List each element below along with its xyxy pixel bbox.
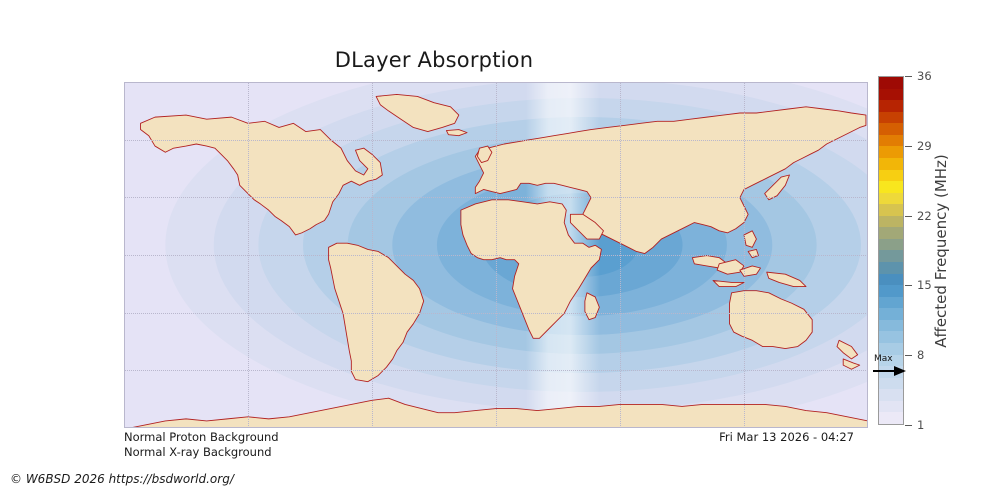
colorbar-band-7 [879,158,903,170]
page-title: DLayer Absorption [0,48,868,72]
colorbar-tick-label-22: 22 [917,209,932,223]
colorbar-max-marker: Max [872,356,912,378]
gridline-layer [124,82,868,428]
colorbar-tick-label-1: 1 [917,418,924,432]
colorbar-tick-22 [905,216,912,217]
colorbar-band-10 [879,193,903,205]
colorbar-tick-36 [905,76,912,77]
colorbar-band-12 [879,216,903,228]
colorbar-band-13 [879,227,903,239]
colorbar-band-23 [879,343,903,355]
colorbar-band-16 [879,262,903,274]
colorbar-band-1 [879,89,903,101]
map-clip [124,82,868,428]
colorbar-band-19 [879,297,903,309]
gridline-lat-0 [124,255,868,256]
colorbar-band-0 [879,77,903,89]
map-plot-area[interactable] [124,82,868,428]
colorbar-band-26 [879,378,903,390]
colorbar-title: Affected Frequency (MHz) [931,76,951,425]
gridline-lat-60s [124,370,868,371]
colorbar-band-14 [879,239,903,251]
colorbar-tick-15 [905,285,912,286]
colorbar-band-2 [879,100,903,112]
colorbar-title-text: Affected Frequency (MHz) [932,154,950,348]
gridline-lat-30s [124,313,868,314]
colorbar-band-17 [879,274,903,286]
colorbar-tick-label-29: 29 [917,139,932,153]
arrow-right-icon [872,366,908,378]
colorbar-band-21 [879,320,903,332]
colorbar-band-11 [879,204,903,216]
gridline-lat-60n [124,140,868,141]
colorbar-band-3 [879,112,903,124]
figure-canvas: DLayer Absorption [0,0,1000,500]
colorbar-band-5 [879,135,903,147]
credit-line: © W6BSD 2026 https://bsdworld.org/ [10,472,234,486]
colorbar-band-28 [879,401,903,413]
colorbar-tick-label-36: 36 [917,69,932,83]
xray-background-note: Normal X-ray Background [124,445,279,460]
colorbar-band-27 [879,389,903,401]
colorbar-tick-label-8: 8 [917,348,924,362]
colorbar-band-15 [879,250,903,262]
colorbar-band-9 [879,181,903,193]
colorbar-tick-label-15: 15 [917,278,932,292]
colorbar-band-22 [879,331,903,343]
colorbar-band-20 [879,308,903,320]
colorbar-band-8 [879,170,903,182]
colorbar-tick-29 [905,146,912,147]
colorbar-band-4 [879,123,903,135]
colorbar-tick-1 [905,425,912,426]
colorbar-band-6 [879,146,903,158]
colorbar-band-29 [879,412,903,424]
timestamp: Fri Mar 13 2026 - 04:27 [0,430,868,444]
colorbar-band-18 [879,285,903,297]
colorbar-max-label: Max [874,354,893,364]
gridline-lat-30n [124,197,868,198]
